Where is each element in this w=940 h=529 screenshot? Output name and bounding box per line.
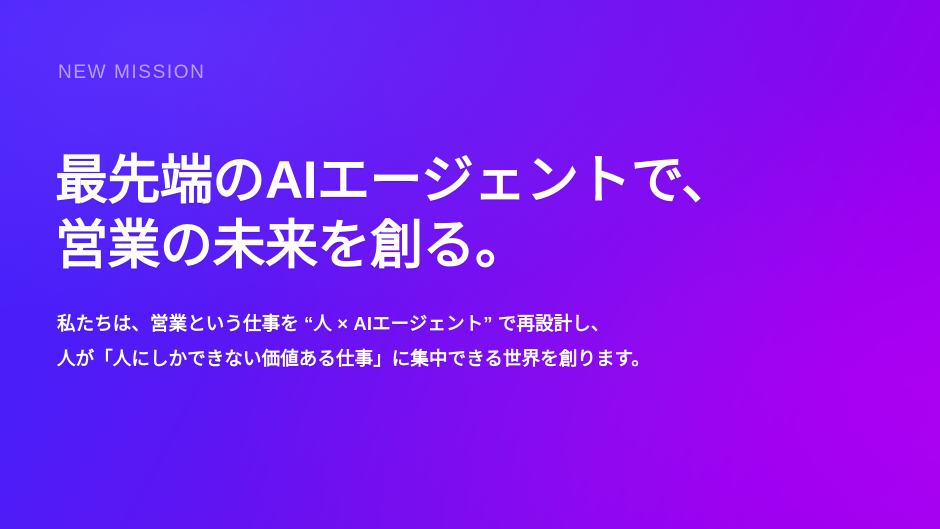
headline-line-2: 営業の未来を創る。	[55, 213, 734, 278]
mission-statement-line-2: 人が「人にしかできない価値ある仕事」に集中できる世界を創ります。	[57, 341, 650, 376]
headline-line-1: 最先端のAIエージェントで、	[55, 148, 734, 213]
eyebrow-label: NEW MISSION	[58, 62, 205, 85]
mission-statement: 私たちは、営業という仕事を “人 × AIエージェント” で再設計し、 人が「人…	[57, 306, 650, 376]
mission-slide: NEW MISSION 最先端のAIエージェントで、 営業の未来を創る。 私たち…	[0, 0, 940, 529]
mission-statement-line-1: 私たちは、営業という仕事を “人 × AIエージェント” で再設計し、	[57, 306, 650, 341]
page-title: 最先端のAIエージェントで、 営業の未来を創る。	[55, 148, 734, 278]
